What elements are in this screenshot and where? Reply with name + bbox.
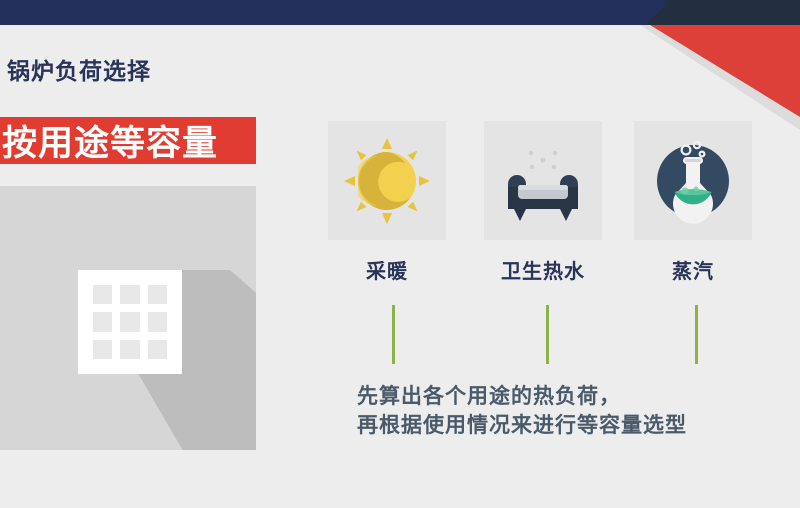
building-window (120, 312, 139, 331)
building-window (93, 340, 112, 359)
building-window (148, 285, 167, 304)
caption-line-1: 先算出各个用途的热负荷， (357, 382, 787, 411)
banner-title: 按用途等容量 (0, 117, 256, 164)
corner-red-triangle (650, 25, 800, 117)
caption-block: 先算出各个用途的热负荷， 再根据使用情况来进行等容量选型 (357, 382, 787, 440)
connector-line-hot-water (546, 305, 549, 364)
building-window (148, 312, 167, 331)
sun-moon-icon (328, 121, 446, 240)
left-illustration-panel (0, 186, 256, 450)
category-label-heating: 采暖 (317, 255, 457, 284)
caption-line-2: 再根据使用情况来进行等容量选型 (357, 411, 787, 440)
bathtub-icon (484, 121, 602, 240)
building-window (120, 340, 139, 359)
page-title: 锅炉负荷选择 (7, 57, 151, 85)
category-label-steam: 蒸汽 (623, 255, 763, 284)
building-window (93, 312, 112, 331)
building-window (93, 285, 112, 304)
category-card-heating[interactable] (328, 121, 446, 240)
flask-icon (634, 121, 752, 240)
building-window (148, 340, 167, 359)
connector-line-heating (392, 305, 395, 364)
top-navy-bar-dark (665, 0, 800, 25)
category-card-steam[interactable] (634, 121, 752, 240)
building-icon (78, 270, 182, 374)
category-card-hot-water[interactable] (484, 121, 602, 240)
category-label-hot-water: 卫生热水 (473, 255, 613, 284)
connector-line-steam (695, 305, 698, 364)
poster-stage: 锅炉负荷选择 按用途等容量 (0, 0, 800, 508)
building-window (120, 285, 139, 304)
